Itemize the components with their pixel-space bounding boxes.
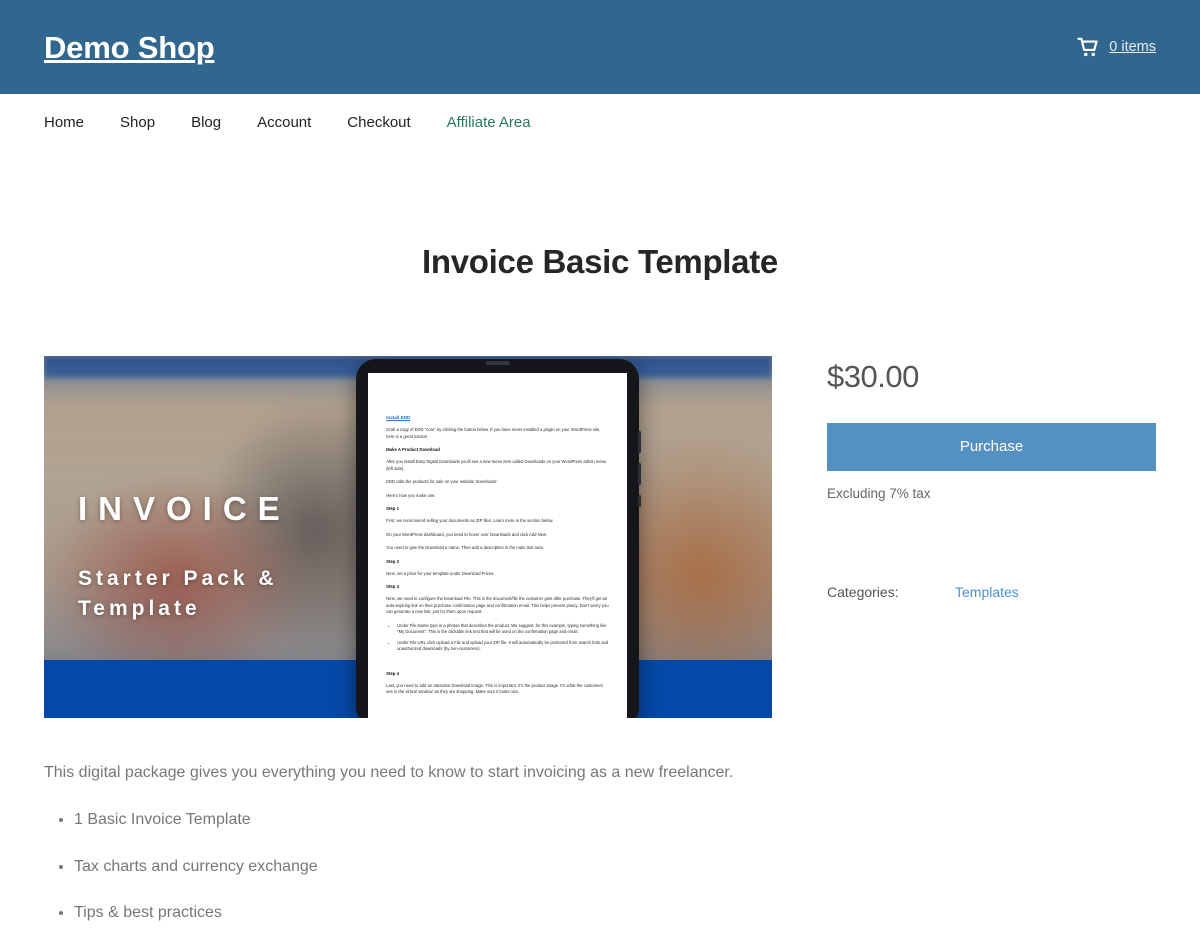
nav-list: Home Shop Blog Account Checkout Affiliat… [44, 114, 531, 131]
purchase-column: $30.00 Purchase Excluding 7% tax Categor… [772, 356, 1156, 600]
nav-item-shop[interactable]: Shop [120, 114, 177, 131]
doc-heading: Step 1 [386, 506, 609, 511]
site-title[interactable]: Demo Shop [44, 32, 214, 63]
doc-paragraph: After you install Easy Digital Downloads… [386, 459, 609, 472]
site-header: Demo Shop 0 items [0, 0, 1200, 94]
doc-heading-link: Install EDD [386, 415, 609, 420]
nav-item-checkout[interactable]: Checkout [347, 114, 432, 131]
product-description: This digital package gives you everythin… [44, 761, 772, 924]
page-title: Invoice Basic Template [44, 243, 1156, 281]
doc-paragraph: On your WordPress dashboard, you need to… [386, 532, 609, 538]
doc-paragraph: First, we recommend selling your documen… [386, 518, 609, 524]
tax-note: Excluding 7% tax [827, 486, 1156, 501]
primary-nav: Home Shop Blog Account Checkout Affiliat… [0, 94, 1200, 151]
doc-paragraph: Last, you need to add an attractive Down… [386, 682, 609, 695]
product-grid: INVOICE Starter Pack & Template Install … [44, 356, 1156, 932]
nav-item-account[interactable]: Account [257, 114, 333, 131]
tablet-button-2 [638, 463, 641, 485]
tablet-button-3 [638, 495, 641, 507]
doc-spacer [386, 660, 609, 670]
product-price: $30.00 [827, 359, 1156, 395]
shopping-cart-icon [1077, 37, 1100, 57]
list-item: Tax charts and currency exchange [74, 856, 772, 878]
product-media-column: INVOICE Starter Pack & Template Install … [44, 356, 772, 932]
doc-heading: Make A Product Download [386, 447, 609, 452]
product-image-wordmark: INVOICE [78, 490, 291, 528]
product-image[interactable]: INVOICE Starter Pack & Template Install … [44, 356, 772, 718]
doc-paragraph: EDD calls the products for sale on your … [386, 479, 609, 485]
doc-paragraph: Next, set a price for your template unde… [386, 570, 609, 576]
list-item: 1 Basic Invoice Template [74, 809, 772, 831]
doc-paragraph: You need to give the Download a name. Th… [386, 545, 609, 551]
purchase-button[interactable]: Purchase [827, 423, 1156, 471]
description-bullet-list: 1 Basic Invoice Template Tax charts and … [44, 809, 772, 924]
doc-list-item: Under File Name type in a phrase that de… [397, 622, 609, 635]
doc-heading: Step 2 [386, 558, 609, 563]
nav-item-home[interactable]: Home [44, 114, 106, 131]
doc-heading: Step 4 [386, 670, 609, 675]
cart-link[interactable]: 0 items [1077, 37, 1156, 57]
categories-row: Categories: Templates [827, 584, 1156, 600]
tablet-device: Install EDD Grab a copy of EDD "core" by… [356, 359, 639, 718]
tablet-screen: Install EDD Grab a copy of EDD "core" by… [368, 373, 627, 718]
nav-item-affiliate-area[interactable]: Affiliate Area [447, 114, 531, 131]
doc-body: Grab a copy of EDD "core" by clicking th… [386, 427, 609, 695]
list-item: Tips & best practices [74, 902, 772, 924]
product-image-subtitle: Starter Pack & Template [78, 564, 378, 624]
doc-list-item: Under File URL click Upload a File and u… [397, 639, 609, 652]
tablet-document: Install EDD Grab a copy of EDD "core" by… [386, 415, 609, 695]
page-content: Invoice Basic Template INVOICE Starter P… [0, 243, 1200, 932]
tablet-button-1 [638, 431, 641, 453]
nav-item-blog[interactable]: Blog [191, 114, 243, 131]
doc-heading: Step 3 [386, 584, 609, 589]
tablet-notch [486, 361, 510, 365]
doc-paragraph: Here's how you make one: [386, 493, 609, 499]
description-lead: This digital package gives you everythin… [44, 761, 772, 784]
doc-list: Under File Name type in a phrase that de… [386, 622, 609, 652]
category-link-templates[interactable]: Templates [955, 584, 1019, 600]
cart-item-count: 0 items [1109, 39, 1156, 55]
categories-label: Categories: [827, 584, 955, 600]
doc-paragraph: Next, we need to configure the Download … [386, 596, 609, 615]
doc-paragraph: Grab a copy of EDD "core" by clicking th… [386, 427, 609, 440]
